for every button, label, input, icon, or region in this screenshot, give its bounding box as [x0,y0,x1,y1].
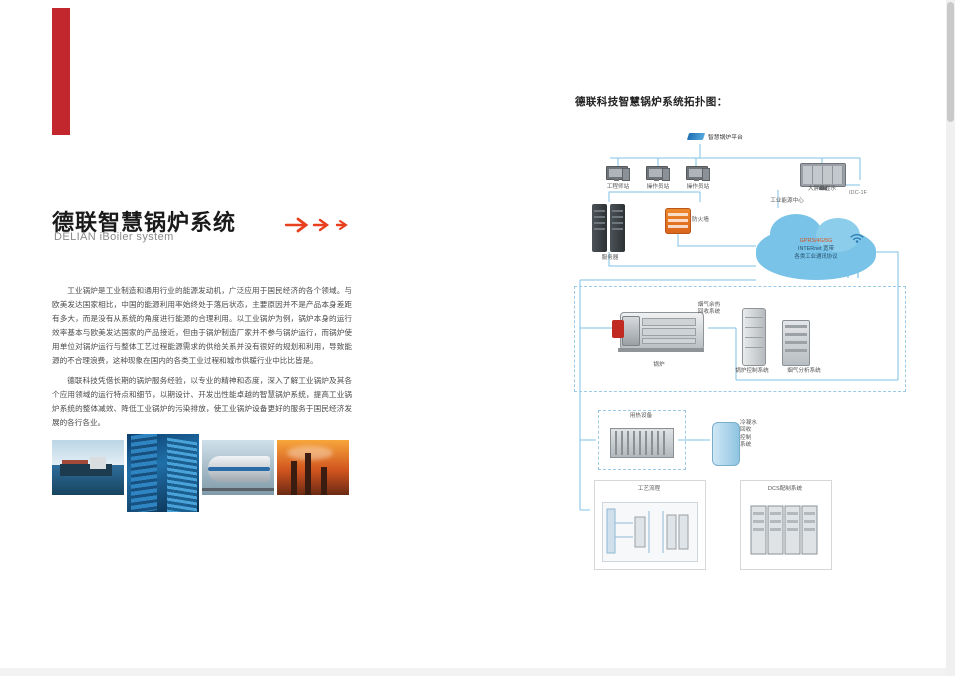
heat-users-label: 用热设备 [598,413,684,420]
cloud-line-1: GPRS/4G/5G [760,238,872,246]
dcs-cabinets-icon [750,504,820,556]
scrollbar-thumb[interactable] [947,2,954,122]
red-accent-bar [52,8,70,135]
idc-label: IDC-1F [838,190,878,197]
display-wall-icon [800,163,846,187]
page-subtitle-en: DELIAN iBoiler system [54,231,174,243]
photo-power-plant [277,440,349,495]
energy-center-label: 工业能源中心 [742,198,832,205]
photo-train [202,440,274,495]
left-content-panel: 德联智慧锅炉系统 DELIAN iBoiler system 工业锅炉是工业制造… [52,0,352,660]
server-rack-icon [592,204,626,252]
condensate-label: 冷凝水回收控制系统 [740,420,780,449]
operator-station-2-label: 操作员站 [672,184,724,191]
intro-paragraph-1: 工业锅炉是工业制造和通用行业的能源发动机，广泛应用于国民经济的各个领域。与欧美发… [52,284,352,368]
page-canvas: 德联智慧锅炉系统 DELIAN iBoiler system 工业锅炉是工业制造… [0,0,955,676]
photo-ship [52,440,124,495]
boiler-label: 锅炉 [634,362,684,369]
arrow-decoration-icon [284,214,364,236]
deaerator-vessel-icon [742,308,766,366]
cloud-line-2: INTERnet 宽带 [760,246,872,254]
condensate-tank-icon [712,422,740,466]
diagram-title: 德联科技智慧锅炉系统拓扑图： [575,94,728,109]
topology-diagram-panel: 德联科技智慧锅炉系统拓扑图： [560,80,940,600]
platform-icon [687,133,705,140]
firewall-icon [665,208,691,234]
cloud-text: GPRS/4G/5G INTERnet 宽带 各类工业通讯协议 [760,238,872,261]
heat-exchanger-icon [610,428,674,458]
bottom-band [0,668,946,676]
boiler-control-cabinet-icon [782,320,810,366]
operator-station-2-icon [686,166,708,180]
scrollbar-track[interactable] [946,0,955,676]
photo-glass-towers [127,434,199,512]
cloud-line-3: 各类工业通讯协议 [760,254,872,262]
flue-analyzer-label: 烟气分析系统 [772,368,836,375]
dcs-label: DCS配制系统 [740,486,830,493]
photo-strip [52,440,352,512]
process-flow-label: 工艺流程 [594,486,704,493]
server-label: 服务器 [584,255,636,262]
engineer-station-icon [606,166,628,180]
operator-station-1-icon [646,166,668,180]
intro-paragraph-2: 德联科技凭借长期的锅炉服务经验，以专业的精神和态度，深入了解工业锅炉及其各个应用… [52,374,352,430]
platform-label: 智慧锅炉平台 [708,132,743,141]
process-flow-graphic [602,502,698,562]
flue-recovery-label: 烟气余热回收系统 [686,302,732,317]
firewall-label: 防火墙 [692,217,732,224]
